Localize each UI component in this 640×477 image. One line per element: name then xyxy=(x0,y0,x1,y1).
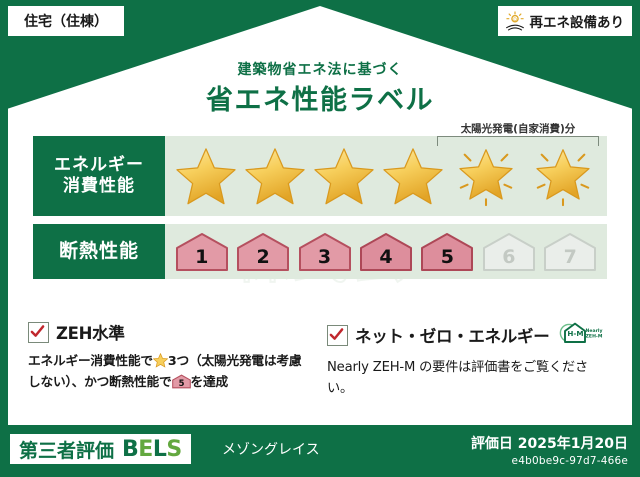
zeh-desc-part1: エネルギー消費性能で xyxy=(28,353,153,368)
star-icon-solar xyxy=(451,143,521,209)
insulation-grade-value: 4 xyxy=(359,232,413,272)
svg-text:ZEH-M: ZEH-M xyxy=(586,333,603,339)
energy-performance-label: エネルギー 消費性能 xyxy=(33,136,165,216)
insulation-grade-badge: 1 xyxy=(175,232,229,272)
insulation-performance-row: 断熱性能 1 2 3 4 xyxy=(33,224,607,279)
energy-label-line1: エネルギー xyxy=(54,155,144,176)
insulation-grades-container: 1 2 3 4 5 xyxy=(165,224,607,279)
insulation-grade-value: 1 xyxy=(175,232,229,272)
star-icon xyxy=(244,146,306,206)
label-footer: 第三者評価 BELS メゾングレイス 評価日 2025年1月20日 e4b0be… xyxy=(0,425,640,477)
solar-note-label: 太陽光発電(自家消費)分 xyxy=(433,121,603,136)
energy-performance-row: エネルギー 消費性能 太陽光発電(自家消費)分 xyxy=(33,136,607,216)
insulation-grade-badge: 7 xyxy=(543,232,597,272)
star-icon xyxy=(175,146,237,206)
insulation-grade-value: 7 xyxy=(543,232,597,272)
bels-letter-b: B xyxy=(122,437,138,462)
third-party-label: 第三者評価 xyxy=(19,436,114,463)
bels-letter-e: E xyxy=(138,437,153,462)
evaluation-id: e4b0be9c-97d7-466e xyxy=(471,455,628,467)
zeh-standard-title: ZEH水準 xyxy=(56,320,125,344)
page-title: 省エネ性能ラベル xyxy=(0,78,640,117)
energy-label-root: 住宅（住棟） D 再エネ設備あり 建築物省エネ法に基づく 省エネ性能ラベル xyxy=(0,0,640,477)
svg-text:D: D xyxy=(513,17,517,23)
evaluation-date: 評価日 2025年1月20日 xyxy=(471,433,628,453)
star-icon-solar xyxy=(528,143,598,209)
svg-text:Nearly: Nearly xyxy=(586,328,603,334)
nearly-zeh-m-logo-icon: H-M Nearly ZEH-M xyxy=(556,320,604,350)
zeh-standard-block: ZEH水準 エネルギー消費性能で3つ（太陽光発電は考慮しない）、かつ断熱性能で5… xyxy=(28,320,313,400)
checkbox-checked-icon xyxy=(28,322,49,343)
zeh-desc-part3: を達成 xyxy=(191,374,228,389)
insulation-grade-badge: 3 xyxy=(298,232,352,272)
net-zero-energy-description: Nearly ZEH-M の要件は評価書をご覧ください。 xyxy=(327,357,612,400)
insulation-grade-value: 3 xyxy=(298,232,352,272)
zeh-standard-header: ZEH水準 xyxy=(28,320,313,344)
svg-text:H-M: H-M xyxy=(568,329,584,338)
insulation-performance-label: 断熱性能 xyxy=(33,224,165,279)
svg-text:5: 5 xyxy=(178,378,184,388)
insulation-grade-badge: 2 xyxy=(236,232,290,272)
net-zero-energy-block: ネット・ゼロ・エネルギー H-M Nearly ZEH-M Nearly ZEH… xyxy=(327,320,612,400)
zeh-standard-description: エネルギー消費性能で3つ（太陽光発電は考慮しない）、かつ断熱性能で5を達成 xyxy=(28,351,313,392)
header-subtitle: 建築物省エネ法に基づく xyxy=(0,59,640,79)
bels-logo-box: 第三者評価 BELS xyxy=(10,434,191,464)
energy-label-line2: 消費性能 xyxy=(63,176,135,197)
star-icon xyxy=(313,146,375,206)
net-zero-energy-header: ネット・ゼロ・エネルギー H-M Nearly ZEH-M xyxy=(327,320,612,350)
solar-bracket xyxy=(437,136,599,146)
checkbox-checked-icon xyxy=(327,325,348,346)
energy-stars-container: 太陽光発電(自家消費)分 xyxy=(165,136,607,216)
rating-rows: エネルギー 消費性能 太陽光発電(自家消費)分 xyxy=(33,136,607,287)
renewable-badge-label: 再エネ設備あり xyxy=(530,11,625,31)
net-zero-energy-title: ネット・ゼロ・エネルギー xyxy=(355,323,549,347)
insulation-grade-value: 5 xyxy=(420,232,474,272)
insulation-grade-badge: 6 xyxy=(482,232,536,272)
insulation-grade-value: 6 xyxy=(482,232,536,272)
category-tab: 住宅（住棟） xyxy=(8,6,124,36)
star-icon xyxy=(382,146,444,206)
bels-letter-s: S xyxy=(166,437,181,462)
inline-grade-badge-icon: 5 xyxy=(172,374,191,389)
insulation-grade-value: 2 xyxy=(236,232,290,272)
insulation-grade-badge: 4 xyxy=(359,232,413,272)
bels-letter-l: L xyxy=(153,437,167,462)
renewable-energy-badge: D 再エネ設備あり xyxy=(498,6,633,36)
insulation-grade-badge: 5 xyxy=(420,232,474,272)
sun-icon: D xyxy=(504,10,526,32)
zeh-sections: ZEH水準 エネルギー消費性能で3つ（太陽光発電は考慮しない）、かつ断熱性能で5… xyxy=(28,320,612,400)
building-name: メゾングレイス xyxy=(222,439,320,459)
inline-star-icon xyxy=(153,353,168,368)
insulation-label-text: 断熱性能 xyxy=(59,240,139,264)
evaluation-info: 評価日 2025年1月20日 e4b0be9c-97d7-466e xyxy=(471,433,628,467)
bels-wordmark: BELS xyxy=(122,437,182,462)
category-tab-label: 住宅（住棟） xyxy=(24,11,108,31)
